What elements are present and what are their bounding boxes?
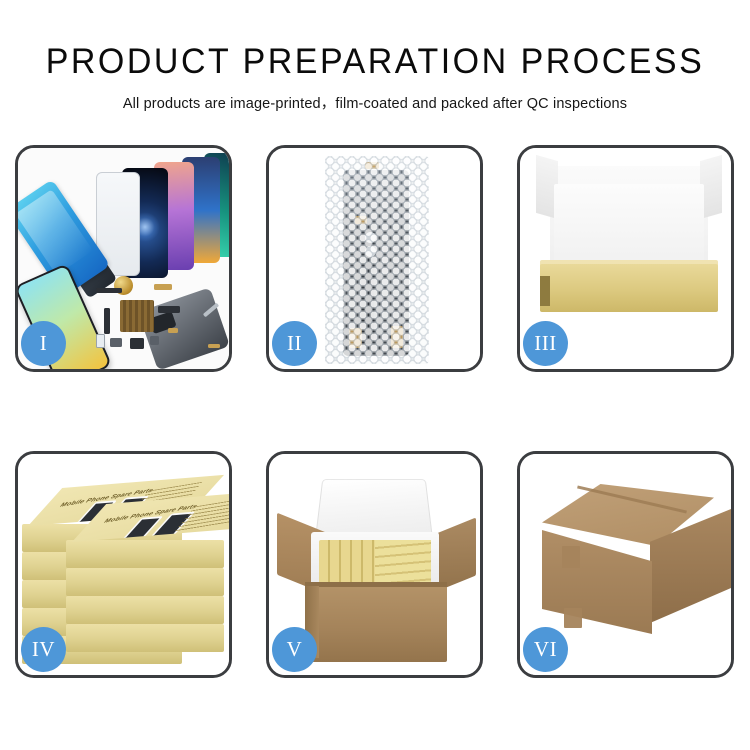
retail-box [66, 568, 224, 596]
retail-box [66, 540, 224, 568]
carton-front-face [542, 530, 652, 634]
component-chip [154, 284, 172, 290]
step-numeral-badge: III [523, 321, 568, 366]
component-chip [96, 288, 122, 293]
yellow-boxes-row [375, 540, 431, 584]
process-step-4: Mobile Phone Spare Parts Mobile Phone Sp… [15, 451, 232, 678]
product-preparation-process-page: PRODUCT PREPARATION PROCESS All products… [0, 0, 750, 750]
bubble-wrap-bag [325, 156, 429, 364]
foam-sheet [554, 184, 704, 272]
page-title: PRODUCT PREPARATION PROCESS [11, 44, 739, 81]
step-numeral-badge: VI [523, 627, 568, 672]
kraft-box-body [540, 264, 718, 312]
step-numeral-badge: V [272, 627, 317, 672]
step-numeral-badge: IV [21, 627, 66, 672]
process-step-3: III [517, 145, 734, 372]
carton-tape-upper [562, 546, 580, 568]
box-side-tab [540, 276, 550, 306]
component-chip [168, 328, 178, 333]
foam-box-lid [315, 479, 432, 537]
header: PRODUCT PREPARATION PROCESS All products… [0, 0, 750, 113]
component-camera [96, 334, 105, 348]
component-chip [110, 338, 122, 347]
component-board [120, 300, 154, 332]
process-step-2: II [266, 145, 483, 372]
component-flex [104, 308, 110, 334]
step-numeral-badge: I [21, 321, 66, 366]
process-step-grid: I II [15, 145, 735, 680]
process-step-1: I [15, 145, 232, 372]
page-subtitle: All products are image-printed，film-coat… [0, 92, 750, 113]
retail-box [66, 596, 224, 624]
carton-tape-lower [564, 608, 582, 628]
process-step-6: VI [517, 451, 734, 678]
component-screw [208, 344, 220, 348]
process-step-5: V [266, 451, 483, 678]
step-numeral-badge: II [272, 321, 317, 366]
shipping-carton-body [305, 582, 447, 662]
component-flex [158, 306, 180, 313]
component-chip [130, 338, 144, 349]
component-chip [150, 336, 159, 345]
bubble-texture [325, 156, 429, 364]
retail-box [66, 624, 224, 652]
